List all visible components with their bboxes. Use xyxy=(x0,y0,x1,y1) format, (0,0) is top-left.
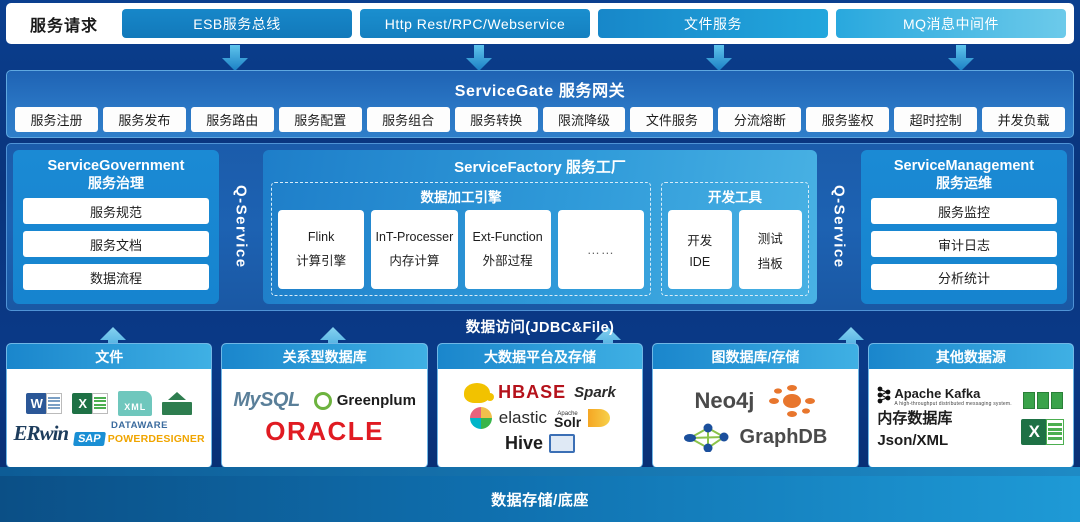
data-source-title: 关系型数据库 xyxy=(222,344,426,369)
dev-tools-group: 开发工具 开发 IDE 测试 挡板 xyxy=(661,182,809,296)
data-processing-engine-title: 数据加工引擎 xyxy=(278,186,644,206)
data-source-relational-db: 关系型数据库 MySQL Greenplum ORACLE xyxy=(221,343,427,468)
powerdesigner-logo: POWERDESIGNER xyxy=(108,433,205,445)
management-item[interactable]: 服务监控 xyxy=(871,198,1057,224)
elastic-mark-icon xyxy=(470,407,492,429)
engine-card-desc: 外部过程 xyxy=(483,250,533,269)
data-source-bigdata: 大数据平台及存储 HBASE Spark elastic Apache Solr xyxy=(437,343,643,468)
sap-logo: SAP xyxy=(73,432,106,446)
flow-arrows-down xyxy=(0,45,1080,71)
service-government-title: ServiceGovernment 服务治理 xyxy=(23,158,209,192)
data-sources-row: 文件 W X XML ERwin DATAWARE xyxy=(6,343,1074,468)
greenplum-logo: Greenplum xyxy=(337,392,416,409)
devtool-card-ide[interactable]: 开发 IDE xyxy=(668,210,732,289)
gate-capability[interactable]: 服务转换 xyxy=(455,107,538,132)
engine-card-flink[interactable]: Flink 计算引擎 xyxy=(278,210,364,289)
q-service-text: Q-Service xyxy=(233,185,250,269)
neo4j-logo: Neo4j xyxy=(694,388,754,414)
service-gate-capability-list: 服务注册 服务发布 服务路由 服务配置 服务组合 服务转换 限流降级 文件服务 … xyxy=(7,101,1073,132)
engine-card-ext-function[interactable]: Ext-Function 外部过程 xyxy=(465,210,551,289)
governance-item[interactable]: 数据流程 xyxy=(23,264,209,290)
engine-card-desc: 计算引擎 xyxy=(296,250,346,269)
engine-card-name: Flink xyxy=(308,230,334,244)
management-item[interactable]: 分析统计 xyxy=(871,264,1057,290)
dev-tools-title: 开发工具 xyxy=(668,186,802,206)
oracle-logo: ORACLE xyxy=(265,416,384,447)
kafka-logo: Apache Kafka xyxy=(894,386,1012,401)
excel-icon: X xyxy=(72,393,108,414)
arrow-down-icon xyxy=(466,45,492,71)
engine-card-more[interactable]: …… xyxy=(558,210,644,289)
solr-flame-icon xyxy=(588,409,610,427)
platform-core-section: ServiceGovernment 服务治理 服务规范 服务文档 数据流程 Q-… xyxy=(6,143,1074,311)
service-gate-section: ServiceGate 服务网关 服务注册 服务发布 服务路由 服务配置 服务组… xyxy=(6,70,1074,138)
solr-logo: Solr xyxy=(554,418,581,426)
service-management-title-cn: 服务运维 xyxy=(871,175,1057,192)
elastic-logo: elastic xyxy=(499,408,547,428)
gate-capability[interactable]: 服务配置 xyxy=(279,107,362,132)
spark-logo: Spark xyxy=(574,384,616,401)
gate-capability[interactable]: 服务组合 xyxy=(367,107,450,132)
erwin-logo: ERwin xyxy=(14,421,69,446)
kafka-mark-icon xyxy=(877,386,891,404)
data-source-title: 大数据平台及存储 xyxy=(438,344,642,369)
arrow-down-icon xyxy=(948,45,974,71)
arrow-down-icon xyxy=(706,45,732,71)
data-source-title: 文件 xyxy=(7,344,211,369)
arrow-down-icon xyxy=(222,45,248,71)
q-service-text: Q-Service xyxy=(831,185,848,269)
architecture-diagram: 服务请求 ESB服务总线 Http Rest/RPC/Webservice 文件… xyxy=(0,0,1080,522)
request-channel-esb[interactable]: ESB服务总线 xyxy=(122,9,352,38)
devtool-card-name: 测试 xyxy=(758,228,783,247)
service-factory-panel: ServiceFactory 服务工厂 数据加工引擎 Flink 计算引擎 In… xyxy=(263,150,817,304)
hive-logo: Hive xyxy=(505,433,543,454)
data-source-logos: HBASE Spark elastic Apache Solr Hive xyxy=(438,369,642,467)
hive-elephant-icon xyxy=(464,383,490,403)
data-source-graph-db: 图数据库/存储 Neo4j xyxy=(652,343,858,468)
service-government-title-en: ServiceGovernment xyxy=(47,158,184,174)
service-gate-title: ServiceGate 服务网关 xyxy=(7,77,1073,101)
data-source-files: 文件 W X XML ERwin DATAWARE xyxy=(6,343,212,468)
dataware-logo: DATAWARE xyxy=(111,420,168,431)
kafka-tagline: A high-throughput distributed messaging … xyxy=(894,401,1012,407)
bottom-accent-strip xyxy=(0,467,1080,476)
data-source-title: 图数据库/存储 xyxy=(653,344,857,369)
service-factory-title: ServiceFactory 服务工厂 xyxy=(271,156,809,177)
data-access-label: 数据访问(JDBC&File) xyxy=(6,313,1074,339)
json-xml-label: Json/XML xyxy=(877,431,948,451)
greenplum-mark-icon xyxy=(314,392,332,410)
devtool-card-desc: IDE xyxy=(689,255,710,269)
gate-capability[interactable]: 服务注册 xyxy=(15,107,98,132)
neo4j-graph-icon xyxy=(684,422,730,452)
hbase-logo: HBASE xyxy=(498,382,566,403)
data-source-logos: W X XML ERwin DATAWARE SAP POWERDESIGNER xyxy=(7,369,211,467)
gate-capability[interactable]: 服务路由 xyxy=(191,107,274,132)
governance-item[interactable]: 服务文档 xyxy=(23,231,209,257)
engine-card-name: InT-Processer xyxy=(375,230,453,244)
gate-capability[interactable]: 文件服务 xyxy=(630,107,713,132)
data-source-logos: MySQL Greenplum ORACLE xyxy=(222,369,426,467)
request-channel-mq[interactable]: MQ消息中间件 xyxy=(836,9,1066,38)
green-database-icon xyxy=(162,391,192,415)
devtool-card-test[interactable]: 测试 挡板 xyxy=(739,210,803,289)
service-government-title-cn: 服务治理 xyxy=(23,175,209,192)
engine-card-int-processer[interactable]: InT-Processer 内存计算 xyxy=(371,210,457,289)
data-storage-foundation-bar: 数据存储/底座 xyxy=(0,476,1080,522)
data-source-other: 其他数据源 Apache Kafka xyxy=(868,343,1074,468)
engine-card-desc: 内存计算 xyxy=(389,250,439,269)
memory-db-label: 内存数据库 xyxy=(877,409,952,429)
service-management-title: ServiceManagement 服务运维 xyxy=(871,158,1057,192)
green-grid-icon xyxy=(1023,392,1063,409)
data-source-title: 其他数据源 xyxy=(869,344,1073,369)
graphdb-logo: GraphDB xyxy=(740,426,828,449)
gate-capability[interactable]: 服务鉴权 xyxy=(806,107,889,132)
gate-capability[interactable]: 并发负载 xyxy=(982,107,1065,132)
gate-capability[interactable]: 分流熔断 xyxy=(718,107,801,132)
q-service-label-left: Q-Service xyxy=(219,150,263,304)
graphdb-mark-icon xyxy=(768,384,816,418)
xml-file-icon: XML xyxy=(118,391,152,416)
q-service-label-right: Q-Service xyxy=(817,150,861,304)
data-source-logos: Apache Kafka A high-throughput distribut… xyxy=(869,369,1073,467)
management-item[interactable]: 审计日志 xyxy=(871,231,1057,257)
gate-capability[interactable]: 限流降级 xyxy=(543,107,626,132)
data-processing-engine-group: 数据加工引擎 Flink 计算引擎 InT-Processer 内存计算 xyxy=(271,182,651,296)
governance-item[interactable]: 服务规范 xyxy=(23,198,209,224)
hive-storage-icon xyxy=(549,434,575,453)
engine-card-name: …… xyxy=(587,242,615,257)
service-management-title-en: ServiceManagement xyxy=(894,158,1034,174)
gate-capability[interactable]: 服务发布 xyxy=(103,107,186,132)
gate-capability[interactable]: 超时控制 xyxy=(894,107,977,132)
devtool-card-name: 开发 xyxy=(687,230,712,249)
service-government-panel: ServiceGovernment 服务治理 服务规范 服务文档 数据流程 xyxy=(13,150,219,304)
request-channel-http[interactable]: Http Rest/RPC/Webservice xyxy=(360,9,590,38)
excel-icon: X xyxy=(1021,419,1064,445)
mysql-logo: MySQL xyxy=(233,389,299,412)
data-source-logos: Neo4j xyxy=(653,369,857,467)
service-request-bar: 服务请求 ESB服务总线 Http Rest/RPC/Webservice 文件… xyxy=(6,3,1074,44)
word-icon: W xyxy=(26,393,62,414)
engine-card-name: Ext-Function xyxy=(473,230,543,244)
service-management-panel: ServiceManagement 服务运维 服务监控 审计日志 分析统计 xyxy=(861,150,1067,304)
service-request-label: 服务请求 xyxy=(14,12,114,36)
request-channel-file[interactable]: 文件服务 xyxy=(598,9,828,38)
devtool-card-desc: 挡板 xyxy=(758,253,783,272)
